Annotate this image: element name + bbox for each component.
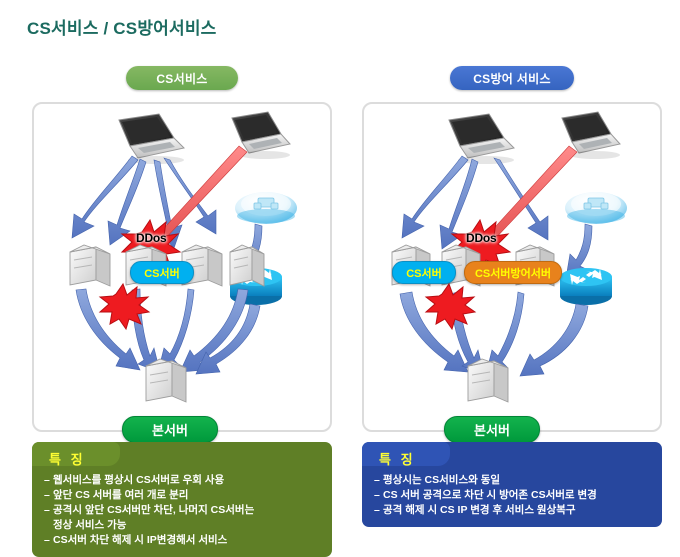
feature-item: –앞단 CS 서버를 여러 개로 분리 [32, 488, 332, 503]
diagram-cs-service: DDos CS서버 본서버 [32, 102, 332, 432]
router-icon [560, 268, 612, 305]
main-server-rack-icon [468, 359, 508, 402]
feature-text: 앞단 CS 서버를 여러 개로 분리 [53, 489, 188, 501]
main-server-label: 본서버 [122, 416, 218, 443]
ddos-label: DDos [136, 231, 167, 245]
diagram-canvas-left: DDos CS서버 본서버 [34, 104, 330, 430]
panel-cs-defense-service: CS방어 서비스 [362, 66, 662, 527]
features-list: –웹서비스를 평상시 CS서버로 우회 사용 –앞단 CS 서버를 여러 개로 … [32, 473, 332, 548]
cloud-icon [235, 192, 297, 224]
explosion-icon-lower [426, 284, 475, 329]
diagram-cs-defense-service: DDos CS서버 CS서버방어서버 본서버 [362, 102, 662, 432]
feature-item: –CS서버 차단 해제 시 IP변경해서 서비스 [32, 533, 332, 548]
laptop-icon-attacker [449, 114, 514, 164]
feature-text: 공격시 앞단 CS서버만 차단, 나머지 CS서버는 [53, 504, 254, 516]
feature-item-continuation: 정상 서비스 가능 [32, 518, 332, 533]
feature-item: –공격시 앞단 CS서버만 차단, 나머지 CS서버는 [32, 503, 332, 518]
feature-text: CS서버 차단 해제 시 IP변경해서 서비스 [53, 534, 227, 546]
features-list: –평상시는 CS서비스와 동일 –CS 서버 공격으로 차단 시 방어존 CS서… [362, 473, 662, 518]
traffic-arrows-bottom [76, 289, 260, 374]
page-title: CS서비스 / CS방어서비스 [27, 14, 217, 39]
feature-text: 정상 서비스 가능 [53, 519, 126, 531]
cloud-icon [565, 192, 627, 224]
main-server-rack-icon [146, 359, 186, 402]
feature-text: 웹서비스를 평상시 CS서버로 우회 사용 [53, 474, 224, 486]
features-title: 특 징 [379, 449, 662, 468]
main-server-label: 본서버 [444, 416, 540, 443]
features-box-cs-service: 특 징 –웹서비스를 평상시 CS서버로 우회 사용 –앞단 CS 서버를 여러… [32, 442, 332, 557]
cs-server-label: CS서버 [392, 261, 456, 284]
badge-cs-defense-service: CS방어 서비스 [450, 66, 574, 90]
cs-server-label: CS서버 [130, 261, 194, 284]
features-title: 특 징 [49, 449, 332, 468]
features-box-cs-defense-service: 특 징 –평상시는 CS서비스와 동일 –CS 서버 공격으로 차단 시 방어존… [362, 442, 662, 527]
feature-text: 평상시는 CS서비스와 동일 [383, 474, 500, 486]
feature-item: –웹서비스를 평상시 CS서버로 우회 사용 [32, 473, 332, 488]
diagram-canvas-right: DDos CS서버 CS서버방어서버 본서버 [364, 104, 660, 430]
feature-item: –공격 해제 시 CS IP 변경 후 서비스 원상복구 [362, 503, 662, 518]
defense-server-label: CS서버방어서버 [464, 261, 562, 284]
laptop-icon-attacker [119, 114, 184, 164]
ddos-label: DDos [466, 231, 497, 245]
feature-item: –CS 서버 공격으로 차단 시 방어존 CS서버로 변경 [362, 488, 662, 503]
feature-text: 공격 해제 시 CS IP 변경 후 서비스 원상복구 [383, 504, 576, 516]
feature-text: CS 서버 공격으로 차단 시 방어존 CS서버로 변경 [383, 489, 597, 501]
badge-cs-service: CS서비스 [126, 66, 238, 90]
panel-cs-service: CS서비스 [32, 66, 332, 557]
feature-item: –평상시는 CS서비스와 동일 [362, 473, 662, 488]
